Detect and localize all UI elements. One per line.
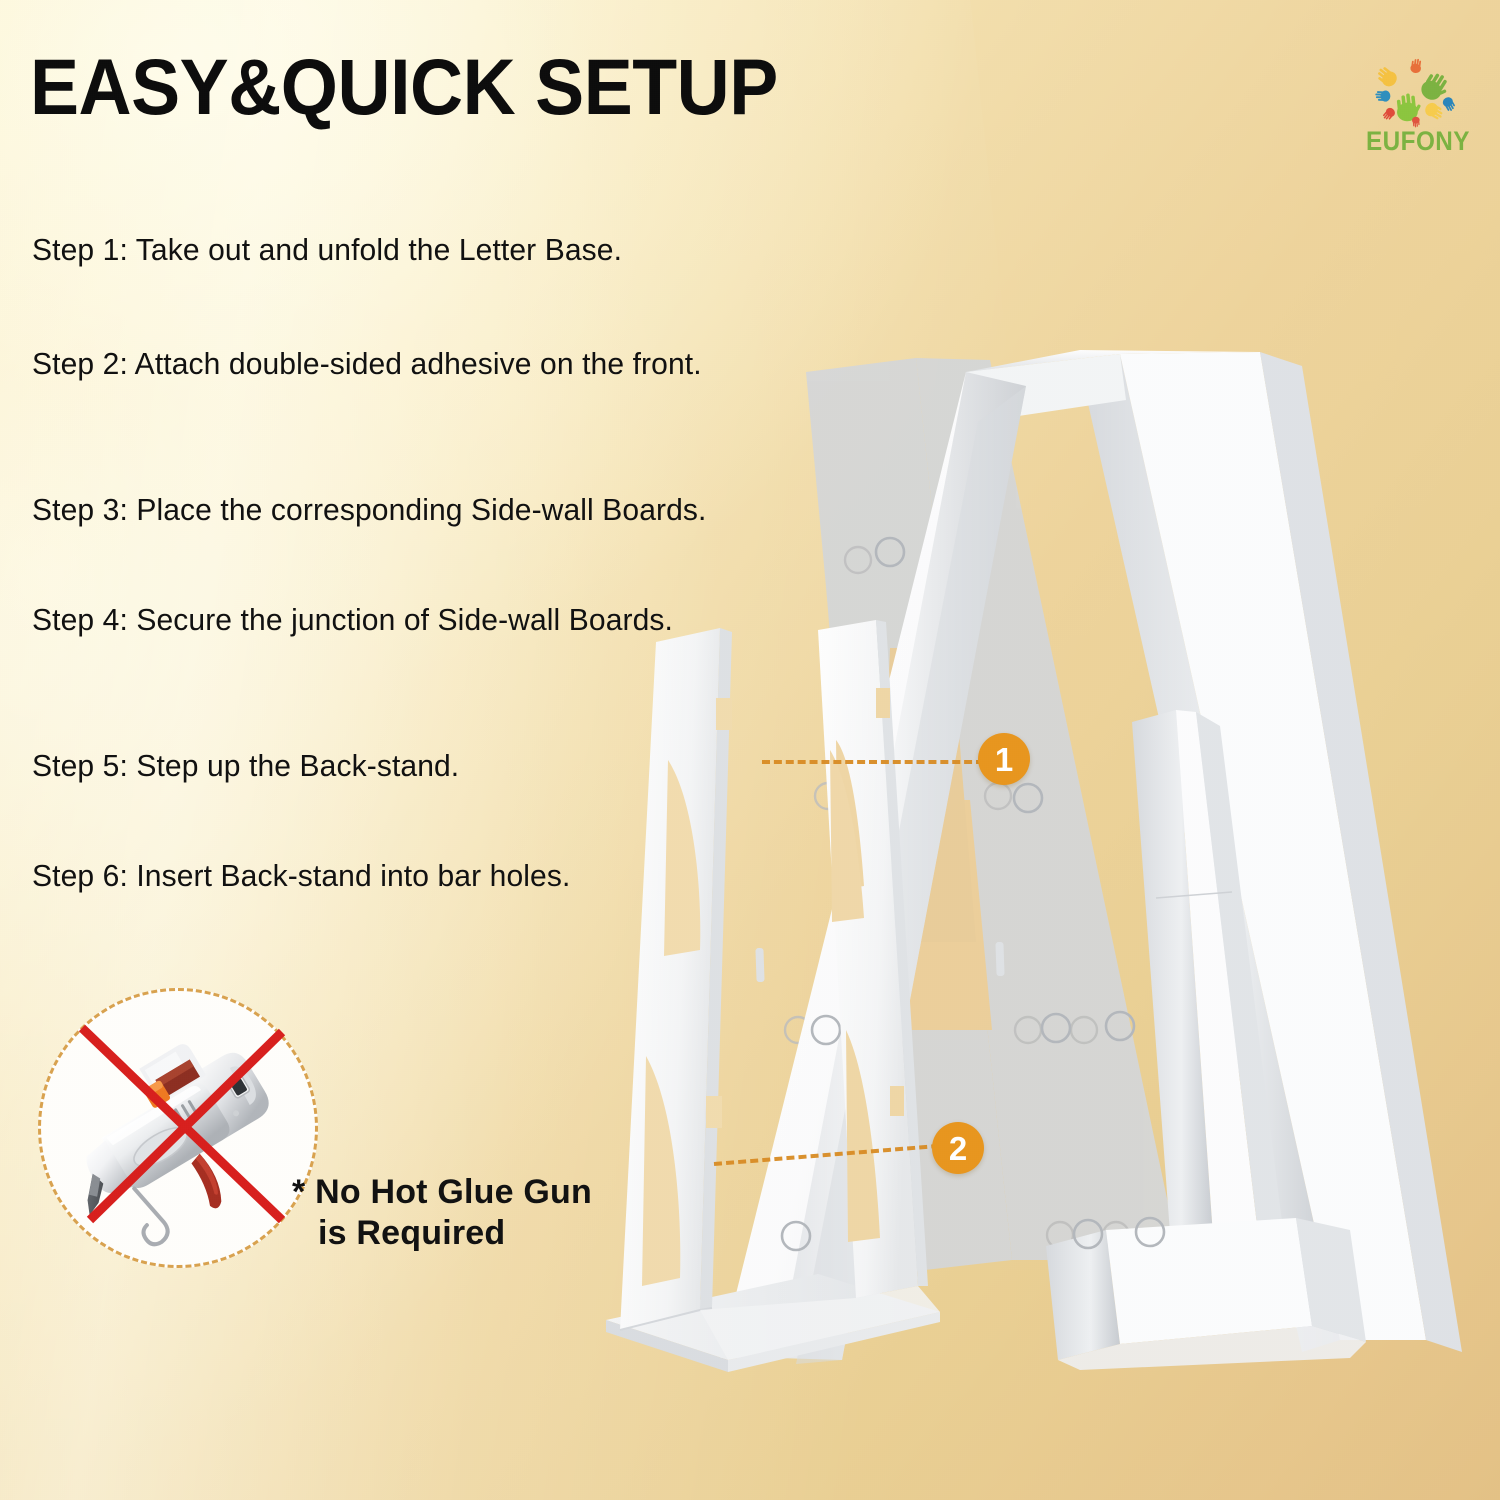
brand-logo: EUFONY [1352,52,1484,160]
callout-leader-line-1 [762,760,984,764]
brand-name: EUFONY [1359,126,1478,157]
callout-marker-1: 1 [978,733,1030,785]
no-glue-gun-notice-line1: * No Hot Glue Gun [292,1173,592,1211]
no-glue-gun-badge [38,988,318,1268]
callout-marker-1-label: 1 [995,743,1013,776]
product-illustration [560,330,1500,1370]
callout-marker-2-label: 2 [949,1132,967,1165]
no-glue-gun-notice-line2: is Required [318,1213,622,1254]
handprints-circle-icon [1352,52,1484,130]
back-stand-board-front [620,628,732,1330]
prohibition-cross-icon [38,988,318,1268]
side-wall-board-lower [1046,1218,1366,1370]
poster-canvas: EASY&QUICK SETUP [0,0,1500,1500]
page-title: EASY&QUICK SETUP [30,47,778,126]
no-glue-gun-notice: * No Hot Glue Gun is Required [292,1172,622,1254]
instruction-step-1: Step 1: Take out and unfold the Letter B… [32,230,781,271]
callout-marker-2: 2 [932,1122,984,1174]
